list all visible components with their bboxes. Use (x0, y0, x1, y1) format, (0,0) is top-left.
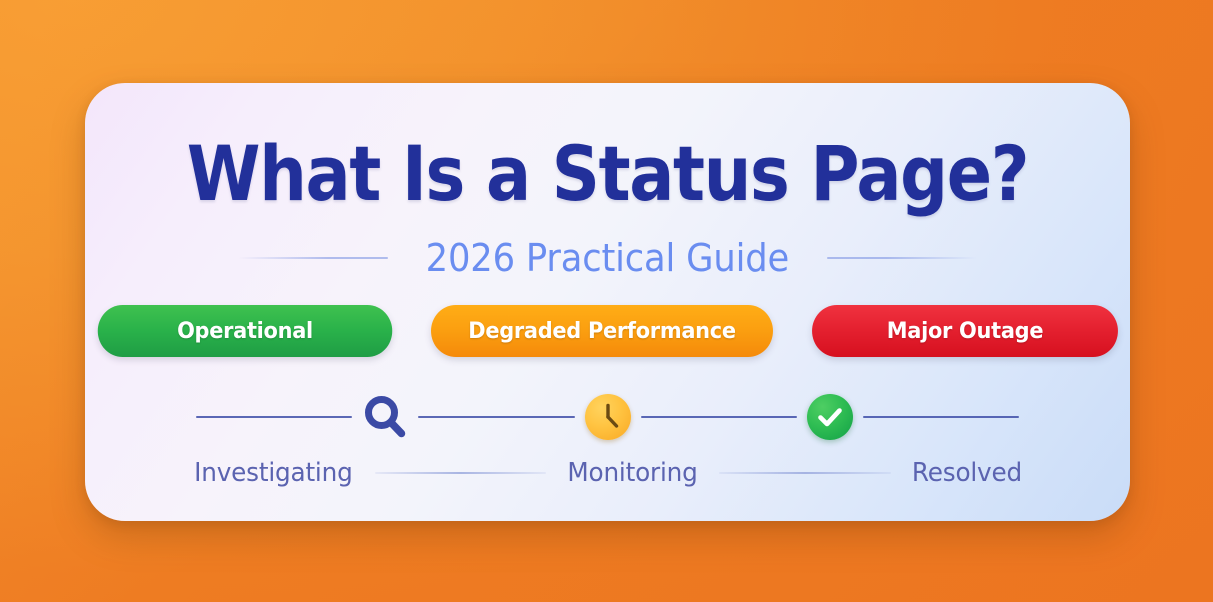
timeline-label-monitoring: Monitoring (568, 458, 698, 488)
status-badge-operational[interactable]: Operational (97, 305, 392, 357)
timeline-label-resolved: Resolved (912, 458, 1022, 488)
timeline-node-investigating[interactable] (358, 390, 412, 444)
timeline-label-connector-2 (719, 472, 891, 474)
magnifier-icon (361, 393, 409, 441)
timeline-label-row: Investigating Monitoring Resolved (190, 458, 1025, 488)
poster-canvas: What Is a Status Page? 2026 Practical Gu… (0, 0, 1213, 602)
status-badge-group: Operational Degraded Performance Major O… (85, 305, 1130, 357)
check-circle-icon (807, 394, 853, 440)
timeline-connector-end (863, 416, 1019, 418)
timeline-label-investigating: Investigating (194, 458, 352, 488)
timeline-connector-start (196, 416, 352, 418)
timeline-node-monitoring[interactable] (581, 390, 635, 444)
timeline-icon-row (190, 390, 1025, 444)
subtitle-row: 2026 Practical Guide (85, 236, 1130, 280)
subtitle-rule-left (238, 257, 388, 259)
clock-icon (585, 394, 631, 440)
page-title: What Is a Status Page? (148, 136, 1068, 212)
status-badge-degraded-performance[interactable]: Degraded Performance (431, 305, 773, 357)
incident-timeline: Investigating Monitoring Resolved (190, 390, 1025, 490)
timeline-label-connector-1 (375, 472, 547, 474)
status-page-card: What Is a Status Page? 2026 Practical Gu… (85, 83, 1130, 521)
status-badge-major-outage[interactable]: Major Outage (812, 305, 1118, 357)
timeline-node-resolved[interactable] (803, 390, 857, 444)
timeline-connector-2 (641, 416, 797, 418)
page-subtitle: 2026 Practical Guide (426, 236, 789, 280)
timeline-connector-1 (418, 416, 574, 418)
subtitle-rule-right (827, 257, 977, 259)
